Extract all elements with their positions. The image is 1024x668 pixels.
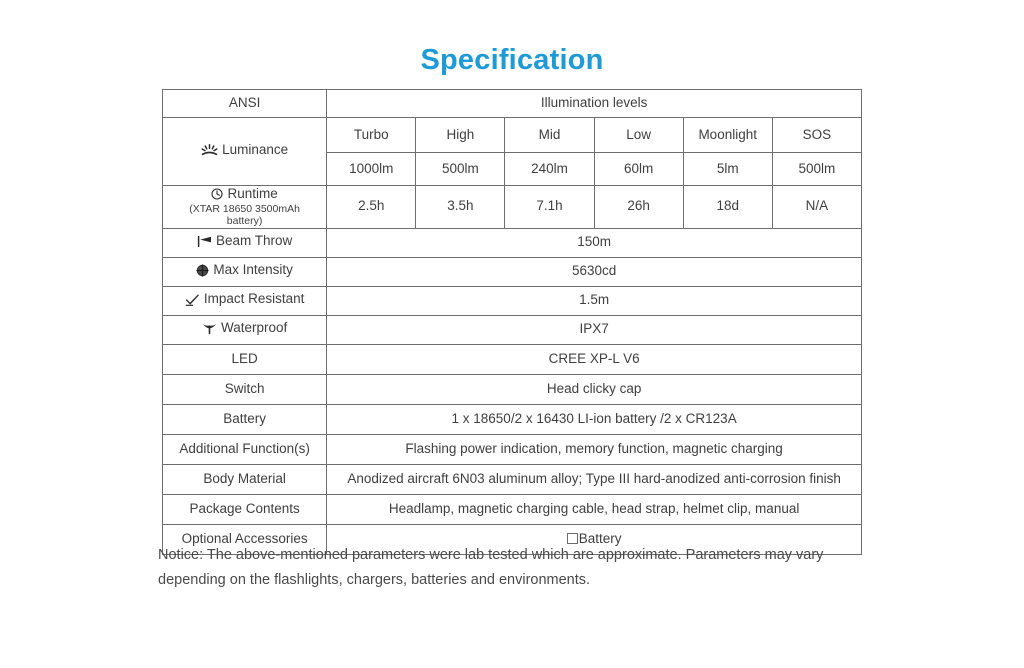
table-row: Beam Throw 150m: [163, 228, 862, 257]
luminance-label: Luminance: [222, 142, 288, 159]
table-row: Switch Head clicky cap: [163, 374, 862, 404]
mode-mid: Mid: [505, 118, 594, 153]
mode-moonlight: Moonlight: [683, 118, 772, 153]
luminance-value-high: 500lm: [416, 153, 505, 186]
table-row: Battery 1 x 18650/2 x 16430 LI-ion batte…: [163, 404, 862, 434]
specification-table: ANSI Illumination levels: [162, 89, 862, 555]
table-row: Impact Resistant 1.5m: [163, 286, 862, 315]
mode-sos: SOS: [772, 118, 861, 153]
waterproof-label-cell: Waterproof: [163, 315, 327, 344]
row-label: Battery: [163, 404, 327, 434]
mode-low: Low: [594, 118, 683, 153]
row-value: Head clicky cap: [327, 374, 862, 404]
impact-resistant-label-cell: Impact Resistant: [163, 286, 327, 315]
luminance-value-moonlight: 5lm: [683, 153, 772, 186]
row-label: Max Intensity: [213, 262, 293, 279]
table-row: Waterproof IPX7: [163, 315, 862, 344]
row-value: 1.5m: [327, 286, 862, 315]
runtime-sub-label-2: battery): [167, 216, 322, 228]
row-label: Additional Function(s): [163, 434, 327, 464]
row-value: IPX7: [327, 315, 862, 344]
row-value: Headlamp, magnetic charging cable, head …: [327, 494, 862, 524]
row-label: LED: [163, 344, 327, 374]
luminance-value-sos: 500lm: [772, 153, 861, 186]
max-intensity-label-cell: Max Intensity: [163, 257, 327, 286]
table-row: LED CREE XP-L V6: [163, 344, 862, 374]
illumination-levels-header: Illumination levels: [327, 90, 862, 118]
table-row-modes: Luminance Turbo High Mid Low Moonlight S…: [163, 118, 862, 153]
specification-page: Specification ANSI Illumination levels: [0, 0, 1024, 668]
impact-resistant-icon: [185, 293, 200, 306]
luminance-value-mid: 240lm: [505, 153, 594, 186]
row-value: 5630cd: [327, 257, 862, 286]
beam-throw-icon: [197, 236, 212, 247]
page-title: Specification: [0, 44, 1024, 77]
row-label: Waterproof: [221, 320, 287, 337]
table-row-ansi: ANSI Illumination levels: [163, 90, 862, 118]
runtime-value-moonlight: 18d: [683, 186, 772, 229]
runtime-value-turbo: 2.5h: [327, 186, 416, 229]
clock-icon: [211, 188, 223, 200]
luminance-label-cell: Luminance: [163, 118, 327, 186]
luminance-value-low: 60lm: [594, 153, 683, 186]
row-value: CREE XP-L V6: [327, 344, 862, 374]
ansi-label: ANSI: [163, 90, 327, 118]
luminance-value-turbo: 1000lm: [327, 153, 416, 186]
runtime-value-low: 26h: [594, 186, 683, 229]
beam-throw-label-cell: Beam Throw: [163, 228, 327, 257]
table-row: Additional Function(s) Flashing power in…: [163, 434, 862, 464]
table-row: Package Contents Headlamp, magnetic char…: [163, 494, 862, 524]
row-value: Anodized aircraft 6N03 aluminum alloy; T…: [327, 464, 862, 494]
row-label: Beam Throw: [216, 233, 292, 250]
row-value: Flashing power indication, memory functi…: [327, 434, 862, 464]
row-value: 1 x 18650/2 x 16430 LI-ion battery /2 x …: [327, 404, 862, 434]
runtime-value-sos: N/A: [772, 186, 861, 229]
max-intensity-icon: [196, 264, 209, 277]
table-row: Max Intensity 5630cd: [163, 257, 862, 286]
waterproof-icon: [202, 322, 217, 335]
table-row: Body Material Anodized aircraft 6N03 alu…: [163, 464, 862, 494]
row-label: Package Contents: [163, 494, 327, 524]
runtime-value-high: 3.5h: [416, 186, 505, 229]
row-label: Impact Resistant: [204, 291, 305, 308]
runtime-label: Runtime: [227, 186, 277, 202]
mode-high: High: [416, 118, 505, 153]
row-label: Switch: [163, 374, 327, 404]
runtime-label-cell: Runtime (XTAR 18650 3500mAh battery): [163, 186, 327, 229]
runtime-value-mid: 7.1h: [505, 186, 594, 229]
sunburst-icon: [201, 144, 218, 157]
notice-text: Notice: The above-mentioned parameters w…: [158, 543, 864, 593]
table-row-runtime: Runtime (XTAR 18650 3500mAh battery) 2.5…: [163, 186, 862, 229]
row-value: 150m: [327, 228, 862, 257]
mode-turbo: Turbo: [327, 118, 416, 153]
row-label: Body Material: [163, 464, 327, 494]
